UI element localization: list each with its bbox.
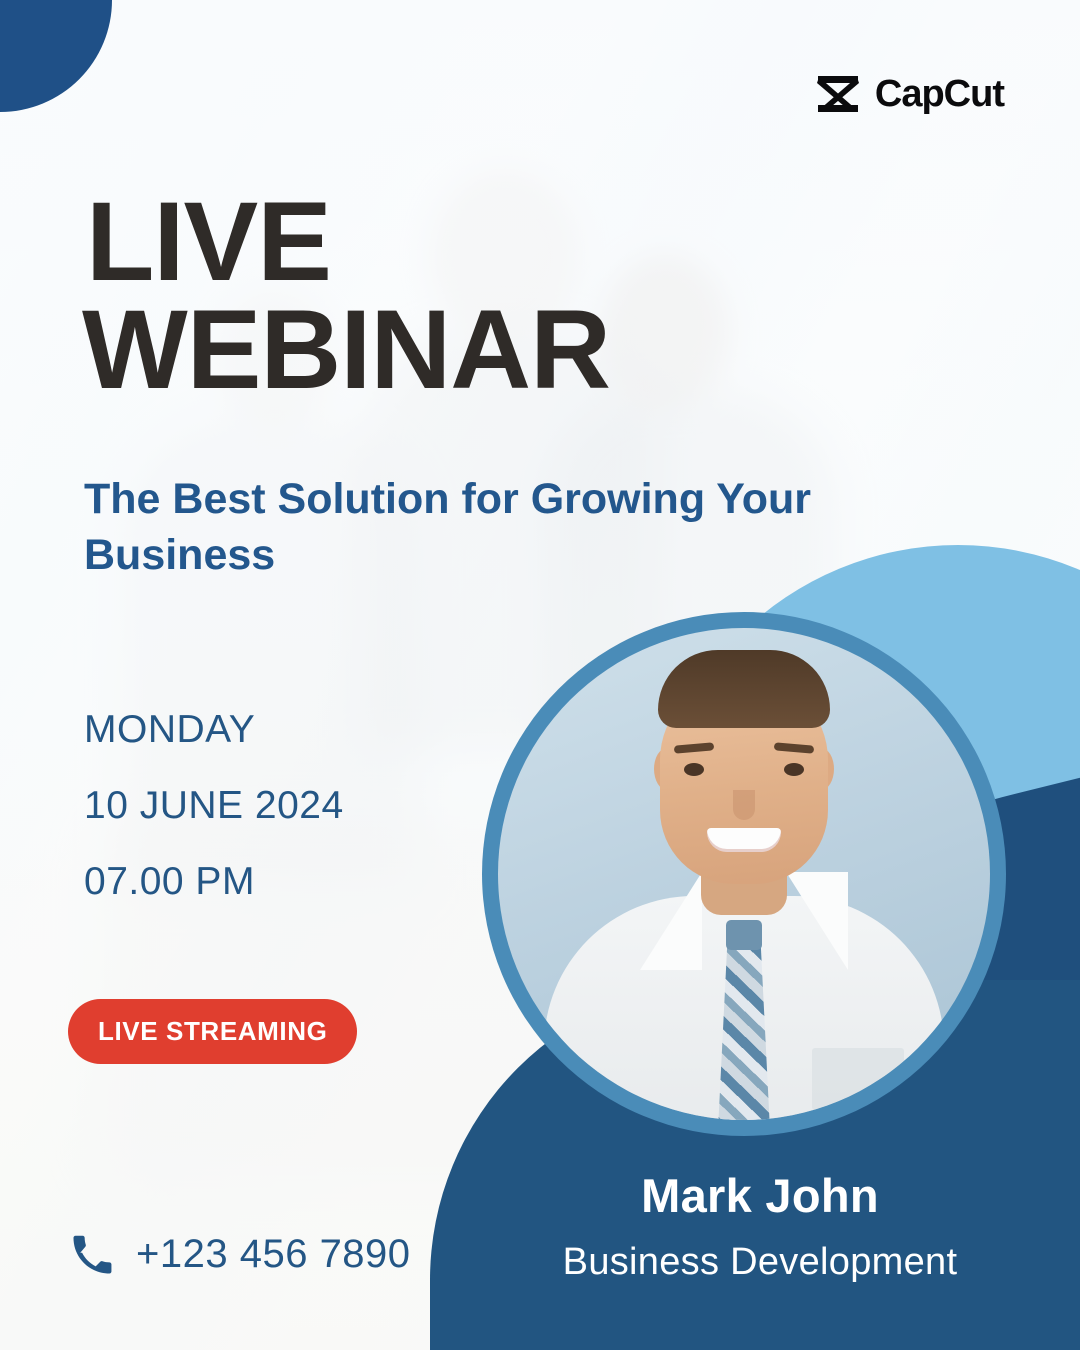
speaker-name: Mark John [500, 1168, 1020, 1223]
subtitle: The Best Solution for Growing Your Busin… [84, 472, 844, 584]
schedule-date: 10 JUNE 2024 [84, 786, 344, 825]
speaker-block: Mark John Business Development [500, 1168, 1020, 1284]
speaker-portrait-photo [498, 628, 990, 1120]
capcut-logo-text: CapCut [875, 75, 1004, 113]
portrait-collar-left [640, 872, 702, 970]
schedule-time: 07.00 PM [84, 862, 344, 901]
phone-icon [70, 1233, 114, 1277]
capcut-logo-mark [815, 74, 861, 114]
portrait-collar-right [786, 872, 848, 970]
portrait-eye-right [784, 763, 804, 776]
portrait-shirt-pocket [812, 1048, 904, 1110]
webinar-poster: CapCut LIVE WEBINAR The Best Solution fo… [0, 0, 1080, 1350]
phone-number: +123 456 7890 [136, 1232, 411, 1277]
portrait-necktie-knot [726, 920, 762, 950]
schedule-day: MONDAY [84, 710, 344, 749]
status-badge[interactable]: LIVE STREAMING [68, 999, 357, 1064]
portrait-hair [658, 650, 830, 728]
portrait-smile [707, 828, 781, 852]
portrait-eye-left [684, 763, 704, 776]
headline-line-2: WEBINAR [82, 296, 706, 404]
speaker-role: Business Development [500, 1241, 1020, 1284]
contact-phone-row[interactable]: +123 456 7890 [70, 1232, 411, 1277]
capcut-logo: CapCut [815, 74, 1004, 114]
headline-line-1: LIVE [86, 179, 331, 304]
schedule-block: MONDAY 10 JUNE 2024 07.00 PM [84, 710, 344, 938]
speaker-portrait-ring [482, 612, 1006, 1136]
portrait-nose [733, 790, 755, 820]
page-title: LIVE WEBINAR [86, 188, 706, 403]
